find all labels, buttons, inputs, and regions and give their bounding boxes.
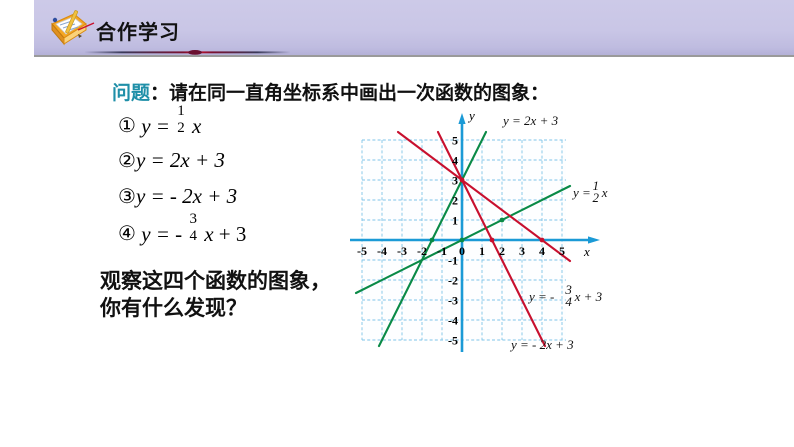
equation-marker: ① [118,113,136,138]
question-text: 请在同一直角坐标系中画出一次函数的图象： [169,82,549,104]
equation-lhs: y = [141,114,170,138]
x-tick-label: 3 [519,244,525,258]
fraction-denominator: 4 [189,229,197,244]
marked-point [460,238,465,243]
fraction-numerator: 3 [189,212,197,227]
header-divider [85,50,290,55]
y-tick-label: -3 [448,294,458,308]
equation-body: y = - 3 4 x + 3 [141,218,246,248]
equation-lhs: y = - [141,222,182,246]
equation-body: y = 1 2 x [141,110,201,140]
fraction: 1 2 [177,110,185,140]
fraction-denominator: 2 [177,121,185,136]
fraction: 3 4 [189,218,197,248]
x-tick-label: -1 [437,244,447,258]
equation-item-2: ②y = 2x + 3 [118,146,358,182]
y-tick-label: -5 [448,334,458,348]
y-tick-label: 1 [452,214,458,228]
label-y-minus-2x-plus-3: y = - 2x + 3 [509,337,574,352]
svg-text:4: 4 [565,294,572,309]
equation-marker: ③ [118,184,136,209]
x-tick-label: 1 [479,244,485,258]
marked-point [500,218,505,223]
y-axis-label: y [467,108,475,123]
x-axis-label: x [583,244,590,259]
svg-text:x + 3: x + 3 [574,289,603,304]
equation-item-3: ③y = - 2x + 3 [118,182,358,218]
x-tick-label: 4 [539,244,545,258]
y-tick-label: -4 [448,314,458,328]
x-tick-label: 0 [459,244,465,258]
svg-text:x: x [601,185,608,200]
equation-variable: x [192,114,201,138]
x-tick-label: -2 [417,244,427,258]
fraction-numerator: 1 [177,104,185,119]
y-tick-label: 5 [452,134,458,148]
y-tick-label: 3 [452,174,458,188]
question-line: 问题：请在同一直角坐标系中画出一次函数的图象： [112,78,549,105]
y-tick-label: -1 [448,254,458,268]
label-y-minus-three-quarter-x-plus-3: y = - [527,289,554,304]
y-tick-label: 2 [452,194,458,208]
marked-point [540,238,545,243]
marked-point [430,238,435,243]
equation-tail: + 3 [219,222,247,246]
y-tick-label: -2 [448,274,458,288]
x-tick-label: 2 [499,244,505,258]
observation-text: 观察这四个函数的图象，你有什么发现？ [100,268,350,322]
notebook-pencil-icon [48,8,96,50]
equation-body: y = - 2x + 3 [136,184,237,209]
equation-item-1: ① y = 1 2 x [118,110,358,146]
header-band: 合作学习 [0,0,794,57]
equation-variable: x [204,222,213,246]
svg-text:2: 2 [593,190,600,205]
equation-list: ① y = 1 2 x ②y = 2x + 3 ③y = - 2x + 3 ④ … [118,110,358,254]
question-colon: ： [150,82,169,104]
label-y-2x-plus-3: y = 2x + 3 [501,113,559,128]
x-tick-label: -3 [397,244,407,258]
equation-item-4: ④ y = - 3 4 x + 3 [118,218,358,254]
question-label: 问题 [112,82,150,104]
equation-marker: ② [118,148,136,173]
header-left-white-strip [0,0,34,57]
header-title: 合作学习 [96,16,180,45]
x-tick-label: 5 [559,244,565,258]
equation-body: y = 2x + 3 [136,148,225,173]
coordinate-graph: yx -5-4-3-2-101234554321-1-2-3-4-5 y = 2… [330,105,650,355]
y-tick-label: 4 [452,154,458,168]
x-tick-label: -5 [357,244,367,258]
equation-marker: ④ [118,221,136,246]
label-y-half-x: y = [571,185,591,200]
x-tick-label: -4 [377,244,387,258]
marked-point [460,178,465,183]
marked-point [490,238,495,243]
